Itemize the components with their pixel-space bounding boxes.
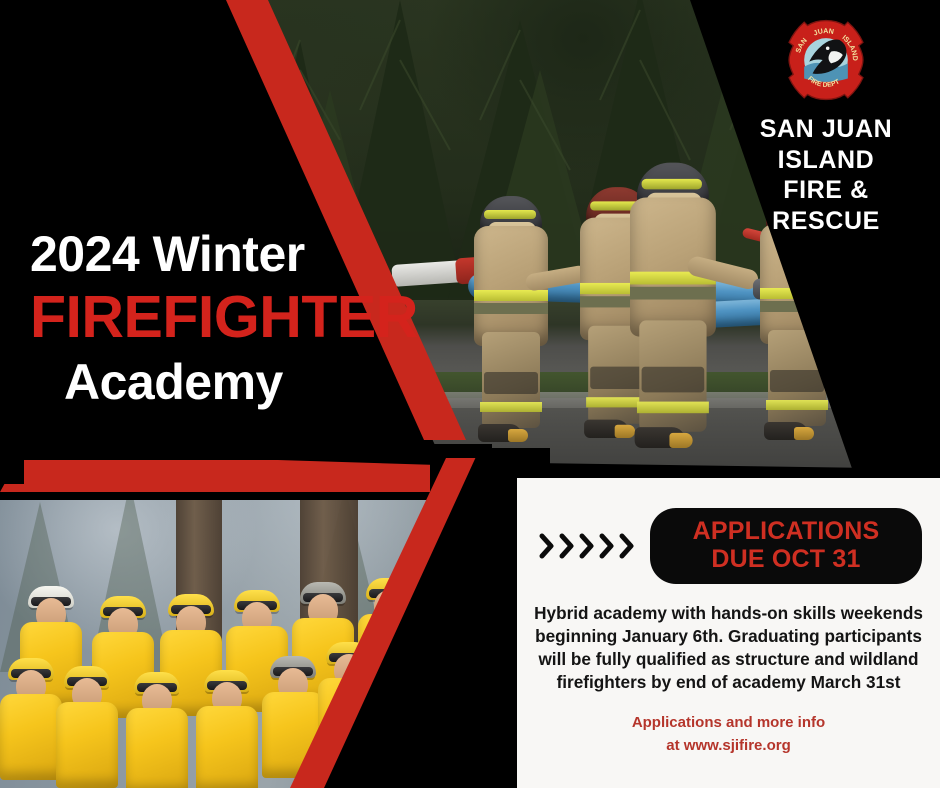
chevron-right-icon [579,533,596,559]
boot [635,427,686,448]
chevron-right-icon [619,533,636,559]
chevron-group [539,533,636,559]
org-line-2: ISLAND [736,145,916,176]
poster-canvas: 2024 Winter FIREFIGHTER Academy SAN JUAN [0,0,940,788]
info-panel: APPLICATIONS DUE OCT 31 Hybrid academy w… [517,478,940,788]
org-name: SAN JUAN ISLAND FIRE & RESCUE [736,114,916,236]
chevron-right-icon [539,533,556,559]
org-line-4: RESCUE [736,206,916,237]
yellow-nomex-shirt [126,708,188,788]
yellow-nomex-shirt [0,694,62,780]
turnout-pants [482,332,540,428]
deadline-badge-line-2: DUE OCT 31 [668,545,904,573]
program-description: Hybrid academy with hands-on skills week… [525,602,932,694]
deadline-row: APPLICATIONS DUE OCT 31 [517,478,940,584]
boot [478,424,522,442]
san-juan-island-fire-dept-orca-badge-icon: SAN JUAN ISLAND FIRE DEPT [784,18,868,102]
cta-line-2[interactable]: at www.sjifire.org [517,734,940,757]
org-line-1: SAN JUAN [736,114,916,145]
page-title: 2024 Winter FIREFIGHTER Academy [30,228,450,408]
brand-block: SAN JUAN ISLAND FIRE DEPT SAN JUAN ISLAN… [736,18,916,236]
turnout-pants [639,320,706,431]
headline-line-2: FIREFIGHTER [30,284,450,350]
headline-line-3: Academy [64,356,450,408]
boot [764,422,808,440]
yellow-nomex-shirt [56,702,118,788]
org-line-3: FIRE & [736,175,916,206]
headline-line-1: 2024 Winter [30,228,450,280]
cta-line-1: Applications and more info [517,711,940,734]
chevron-right-icon [559,533,576,559]
chevron-right-icon [599,533,616,559]
yellow-nomex-shirt [196,706,258,788]
deadline-badge: APPLICATIONS DUE OCT 31 [650,508,922,584]
boot [584,420,629,438]
cta-text: Applications and more info at www.sjifir… [517,711,940,758]
deadline-badge-line-1: APPLICATIONS [668,517,904,545]
